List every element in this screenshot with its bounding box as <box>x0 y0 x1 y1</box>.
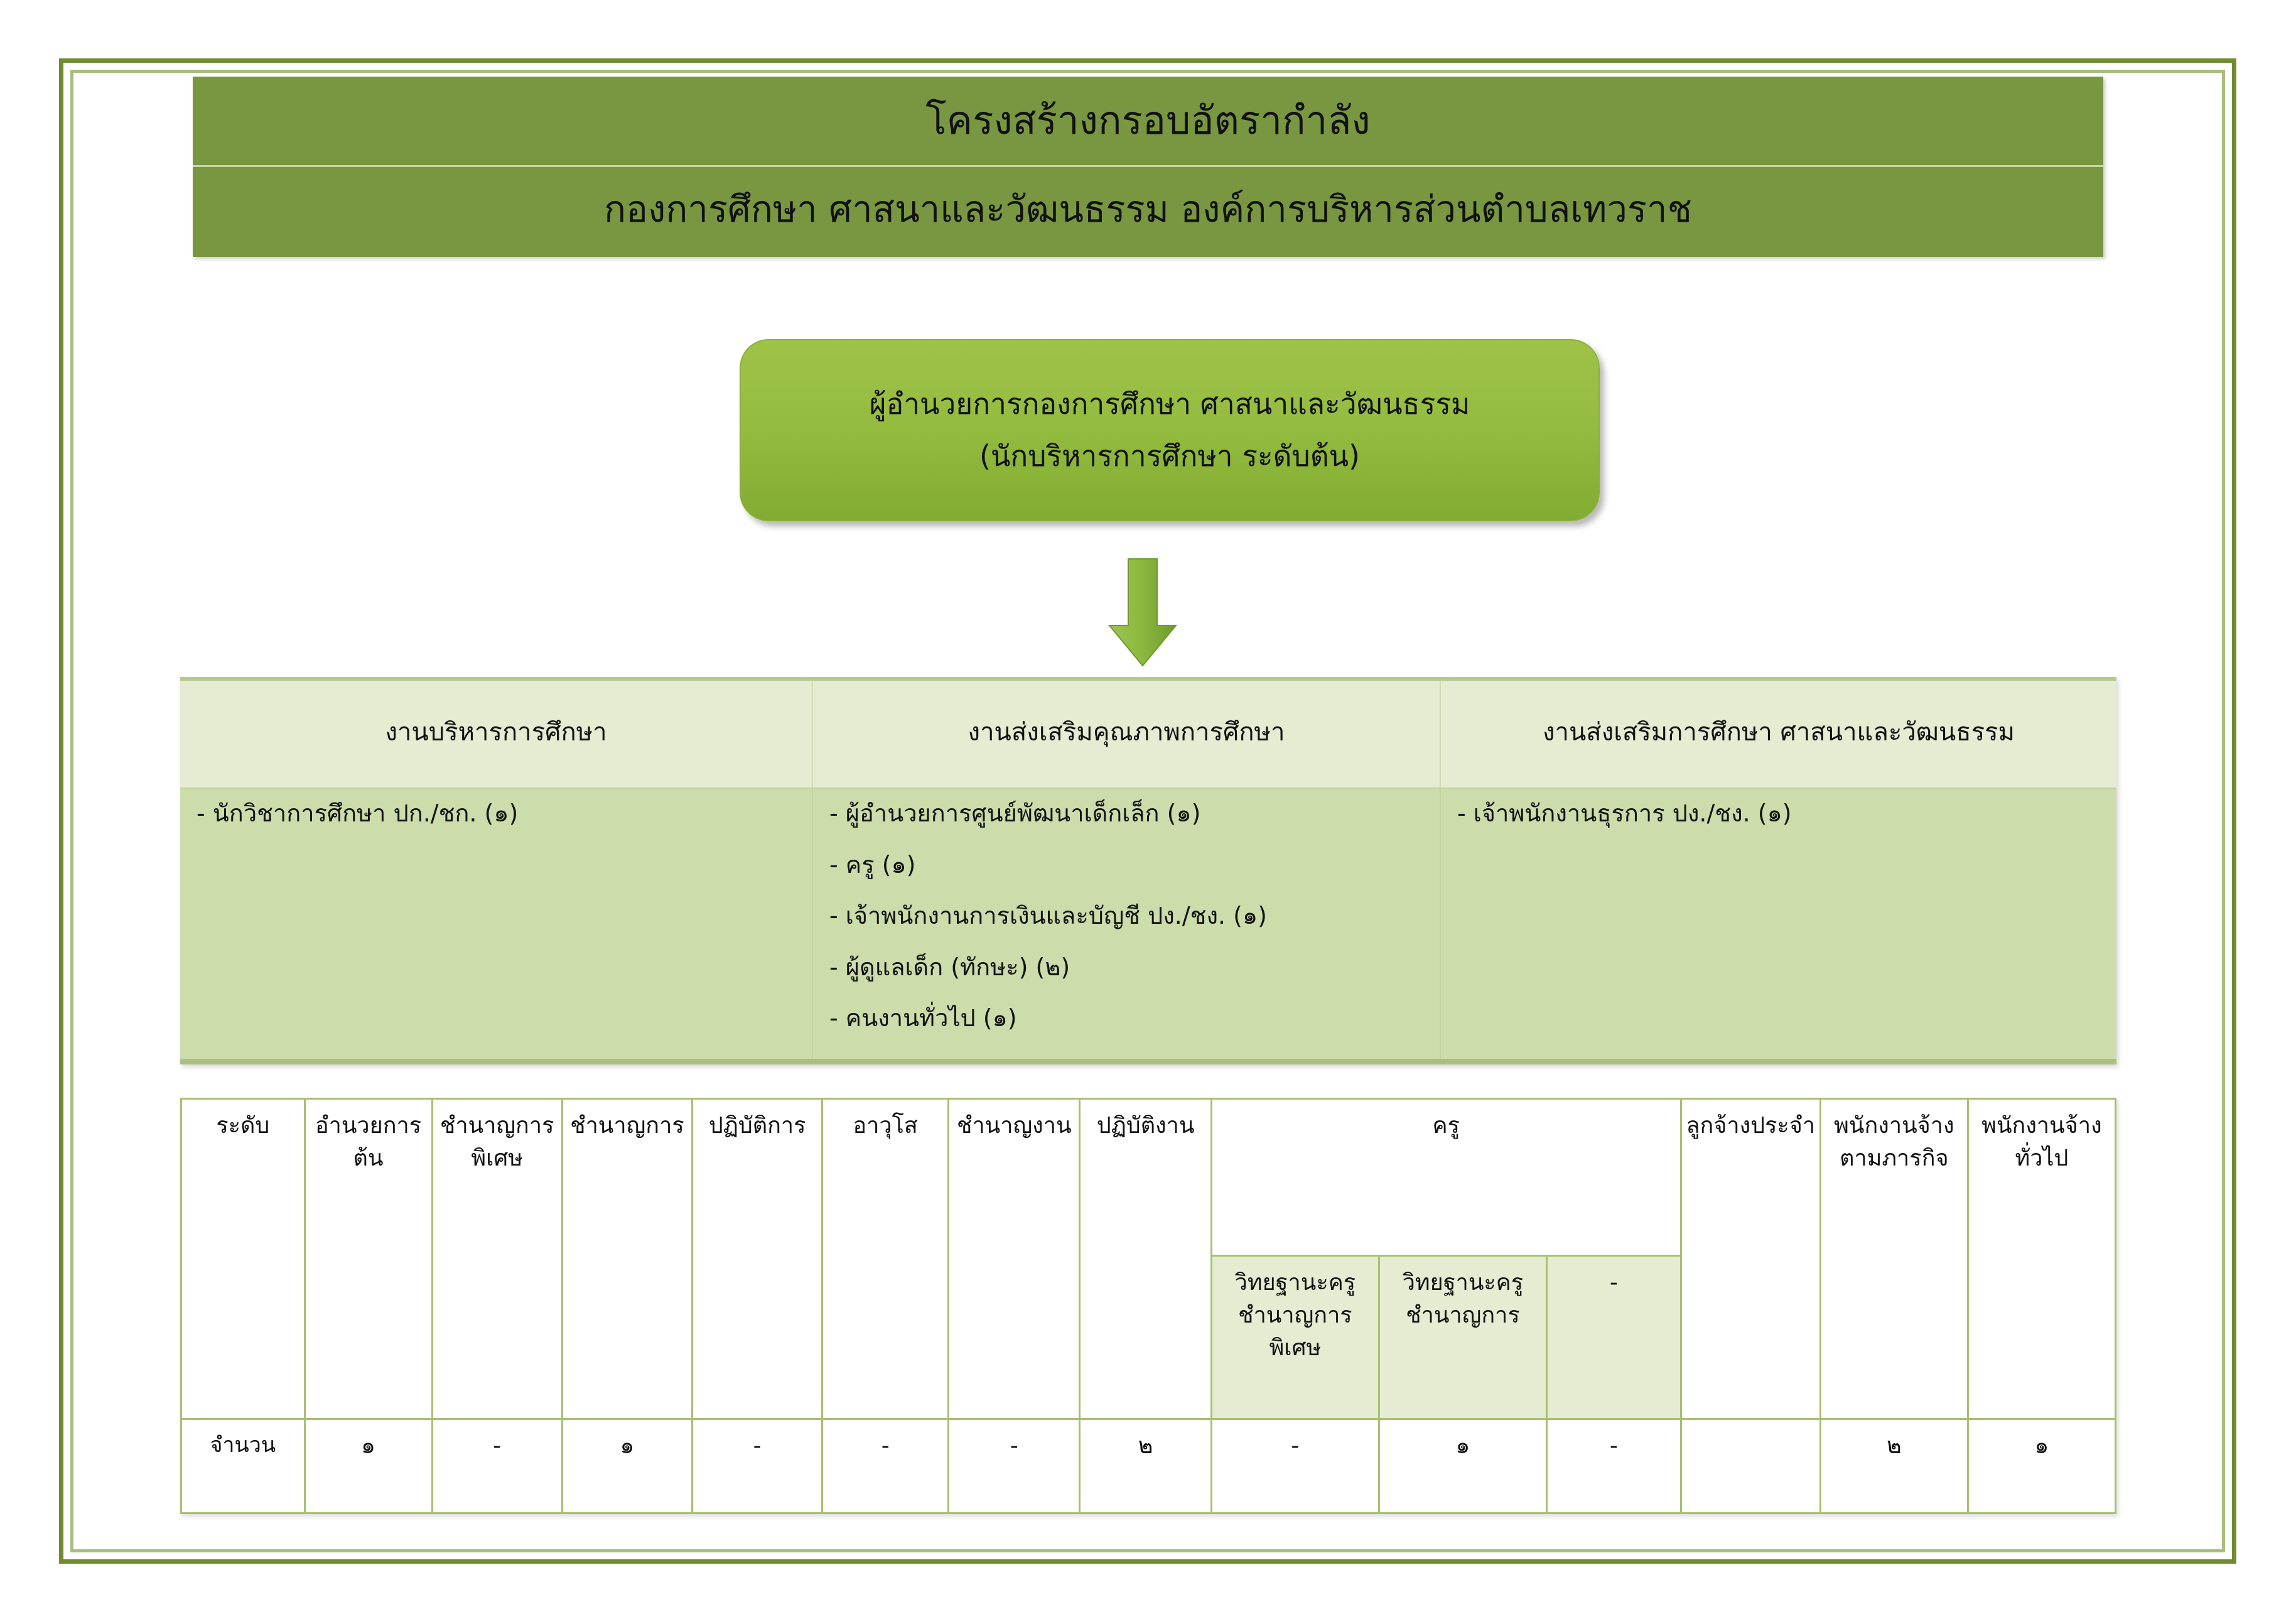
list-item: - นักวิชาการศึกษา ปก./ชก. (๑) <box>180 789 812 840</box>
director-title: ผู้อำนวยการกองการศึกษา ศาสนาและวัฒนธรรม <box>870 386 1470 423</box>
th-chamnan-kan: ชำนาญการ <box>562 1099 692 1419</box>
count-cell: ๑ <box>562 1419 692 1513</box>
division-header-administration: งานบริหารการศึกษา <box>180 681 813 788</box>
list-item: - ครู (๑) <box>813 840 1440 892</box>
th-awuso: อาวุโส <box>822 1099 949 1419</box>
th-patibat-ngan: ปฏิบัติงาน <box>1080 1099 1211 1419</box>
division-header-quality: งานส่งเสริมคุณภาพการศึกษา <box>813 681 1441 788</box>
arrow-down-icon <box>1105 558 1180 671</box>
th-luk-chang-pracham: ลูกจ้างประจำ <box>1681 1099 1820 1419</box>
list-item: - ผู้อำนวยการศูนย์พัฒนาเด็กเล็ก (๑) <box>813 789 1440 840</box>
list-item: - เจ้าพนักงานธุรการ ปง./ชง. (๑) <box>1441 789 2116 840</box>
th-phanak-ngan-chang-tam-pharakit: พนักงานจ้างตามภารกิจ <box>1820 1099 1968 1419</box>
divisions-body-row: - นักวิชาการศึกษา ปก./ชก. (๑) - ผู้อำนวย… <box>180 788 2116 1059</box>
count-cell: - <box>693 1419 822 1513</box>
count-cell <box>1681 1419 1820 1513</box>
page-subtitle: กองการศึกษา ศาสนาและวัฒนธรรม องค์การบริห… <box>193 167 2103 257</box>
count-cell: ๒ <box>1820 1419 1968 1513</box>
th-chamnan-pisek: ชำนาญการพิเศษ <box>432 1099 562 1419</box>
division-column-culture: - เจ้าพนักงานธุรการ ปง./ชง. (๑) <box>1441 789 2116 1059</box>
count-cell: ๑ <box>305 1419 432 1513</box>
division-column-quality: - ผู้อำนวยการศูนย์พัฒนาเด็กเล็ก (๑) - คร… <box>813 789 1441 1059</box>
th-khru-sub-3: - <box>1546 1256 1681 1419</box>
count-cell: - <box>432 1419 562 1513</box>
list-item: - ผู้ดูแลเด็ก (ทักษะ) (๒) <box>813 943 1440 994</box>
document-page: โครงสร้างกรอบอัตรากำลัง กองการศึกษา ศาสน… <box>0 0 2296 1624</box>
count-cell: ๑ <box>1968 1419 2115 1513</box>
th-khru-sub-2: วิทยฐานะครูชำนาญการ <box>1379 1256 1546 1419</box>
count-row-label: จำนวน <box>181 1419 305 1513</box>
th-khru-sub-1: วิทยฐานะครูชำนาญการพิเศษ <box>1211 1256 1379 1419</box>
title-banner: โครงสร้างกรอบอัตรากำลัง กองการศึกษา ศาสน… <box>193 77 2103 257</box>
division-header-culture: งานส่งเสริมการศึกษา ศาสนาและวัฒนธรรม <box>1441 681 2116 788</box>
count-cell: - <box>822 1419 949 1513</box>
list-item: - เจ้าพนักงานการเงินและบัญชี ปง./ชง. (๑) <box>813 891 1440 943</box>
th-patibat-kan: ปฏิบัติการ <box>693 1099 822 1419</box>
th-khru: ครู <box>1211 1099 1681 1256</box>
page-title: โครงสร้างกรอบอัตรากำลัง <box>193 77 2103 167</box>
table-header-row: ระดับ อำนวยการต้น ชำนาญการพิเศษ ชำนาญการ… <box>181 1099 2116 1256</box>
count-cell: ๑ <box>1379 1419 1546 1513</box>
director-subtitle: (นักบริหารการศึกษา ระดับต้น) <box>979 438 1360 475</box>
list-item: - คนงานทั่วไป (๑) <box>813 993 1440 1045</box>
th-amnuay-ton: อำนวยการต้น <box>305 1099 432 1419</box>
th-phanak-ngan-chang-thua-pai: พนักงานจ้างทั่วไป <box>1968 1099 2115 1419</box>
divisions-header-row: งานบริหารการศึกษา งานส่งเสริมคุณภาพการศึ… <box>180 681 2116 788</box>
count-cell: ๒ <box>1080 1419 1211 1513</box>
count-cell: - <box>1546 1419 1681 1513</box>
th-level: ระดับ <box>181 1099 305 1419</box>
count-cell: - <box>1211 1419 1379 1513</box>
staffing-table: ระดับ อำนวยการต้น ชำนาญการพิเศษ ชำนาญการ… <box>180 1098 2116 1514</box>
divisions-panel: งานบริหารการศึกษา งานส่งเสริมคุณภาพการศึ… <box>180 677 2116 1064</box>
director-node: ผู้อำนวยการกองการศึกษา ศาสนาและวัฒนธรรม … <box>740 339 1600 521</box>
division-column-administration: - นักวิชาการศึกษา ปก./ชก. (๑) <box>180 789 813 1059</box>
count-cell: - <box>949 1419 1080 1513</box>
th-chamnan-ngan: ชำนาญงาน <box>949 1099 1080 1419</box>
table-row: จำนวน ๑ - ๑ - - - ๒ - ๑ - ๒ ๑ <box>181 1419 2116 1513</box>
